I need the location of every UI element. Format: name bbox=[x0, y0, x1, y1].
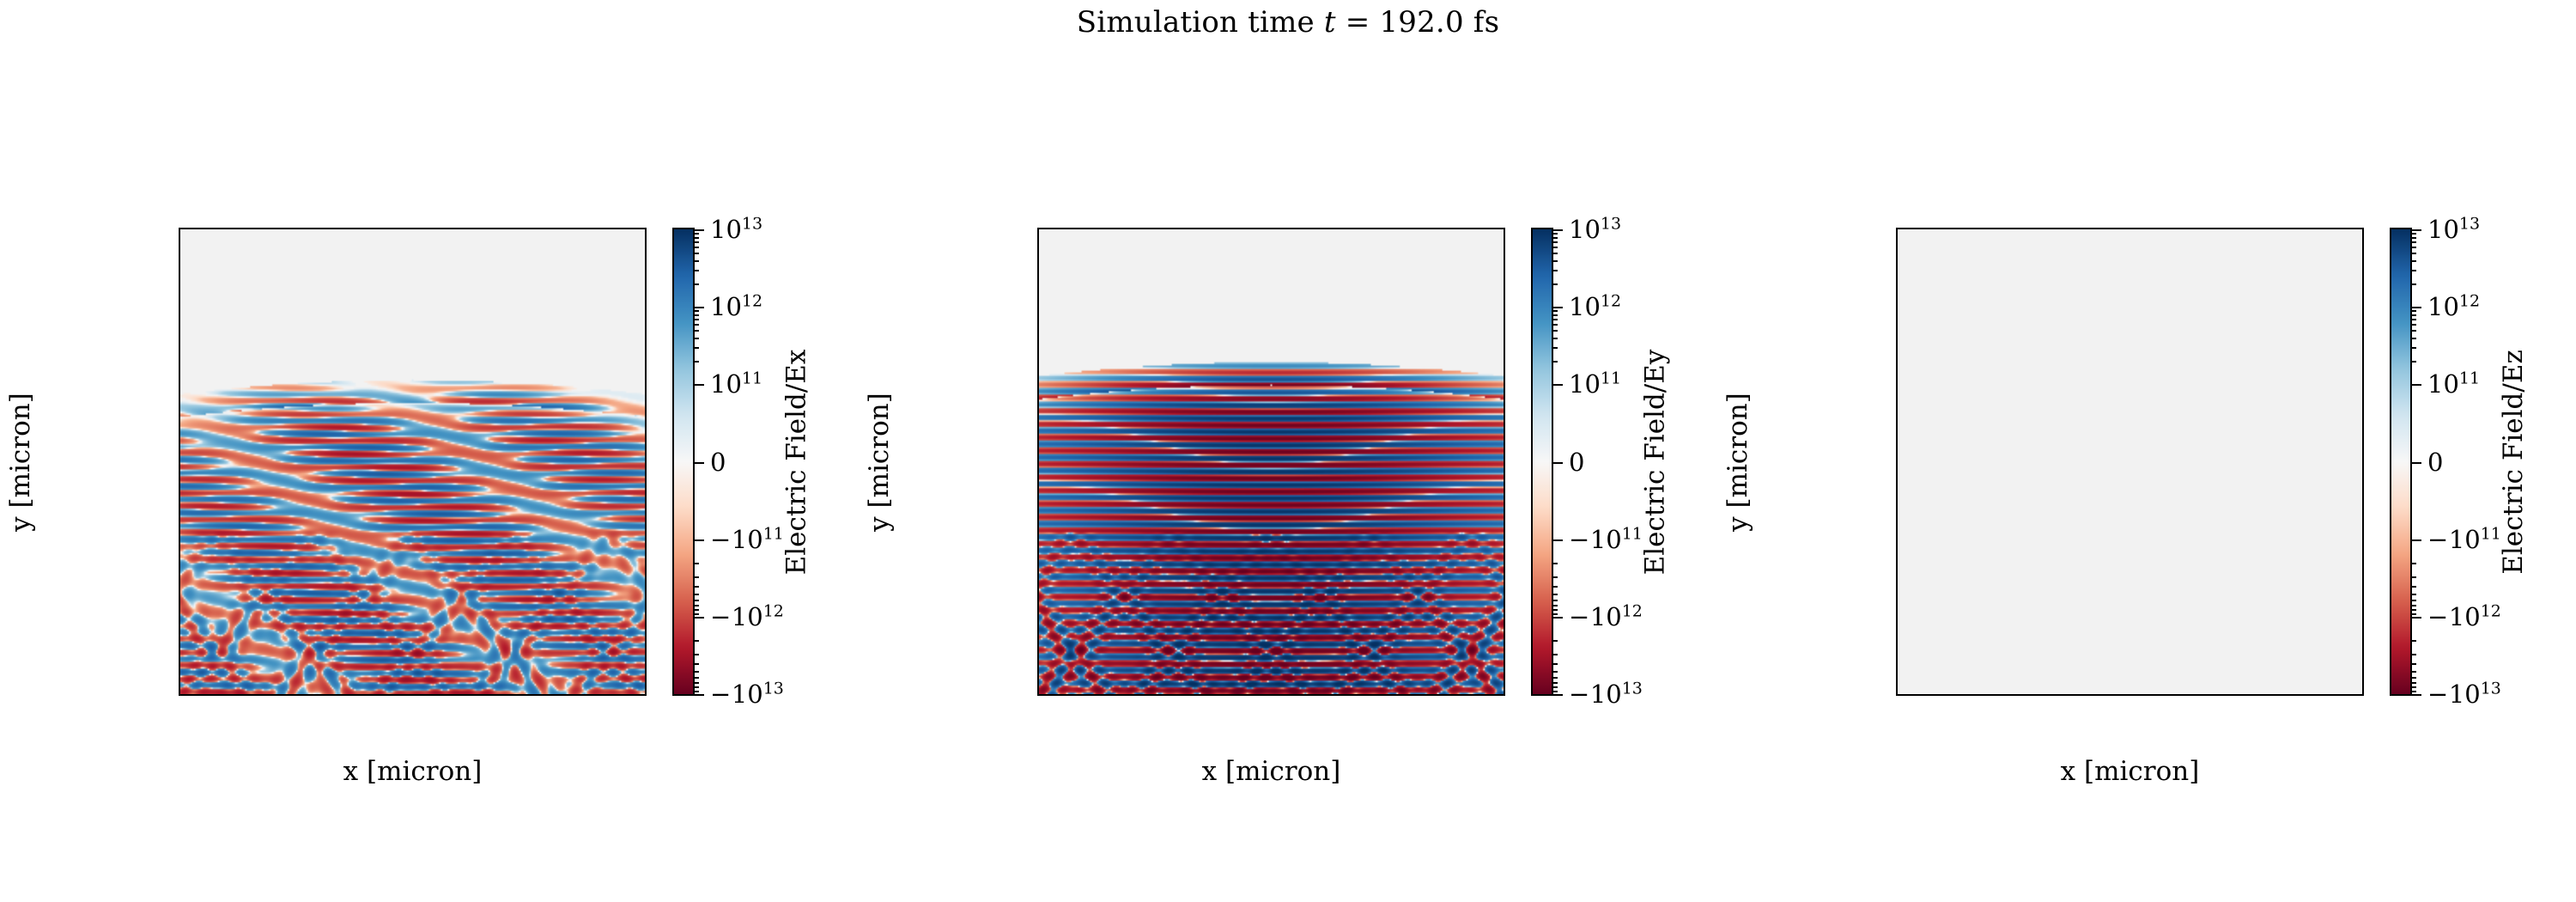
colorbar-tick-label: 1012 bbox=[710, 292, 762, 321]
x-tick-major bbox=[2281, 694, 2283, 696]
y-tick-minor bbox=[1896, 686, 1898, 688]
y-tick-minor bbox=[1896, 558, 1898, 560]
x-tick-major bbox=[513, 694, 515, 696]
colorbar-tick-minor bbox=[1552, 576, 1558, 578]
y-tick-minor bbox=[179, 444, 180, 446]
colorbar-gradient bbox=[1533, 229, 1552, 694]
colorbar-tick-minor bbox=[693, 253, 699, 254]
x-tick-major bbox=[1423, 694, 1425, 696]
y-tick-major bbox=[1896, 265, 1898, 267]
colorbar-title-text: Electric Field/Ex bbox=[781, 349, 811, 575]
y-tick-minor bbox=[1896, 277, 1898, 279]
y-tick-minor bbox=[1037, 380, 1039, 381]
colorbar-tick-label: 1011 bbox=[2427, 369, 2480, 399]
y-tick-minor bbox=[179, 661, 180, 662]
colorbar-tick bbox=[2410, 694, 2421, 696]
y-tick-major bbox=[1037, 673, 1039, 675]
y-tick-minor bbox=[1896, 495, 1898, 497]
x-tick-major bbox=[1272, 694, 1273, 696]
y-tick-minor bbox=[179, 405, 180, 407]
x-axis-title: x [micron] bbox=[1896, 756, 2364, 787]
x-tick-minor bbox=[2306, 694, 2308, 696]
x-tick-minor bbox=[1498, 694, 1500, 696]
colorbar-tick-minor bbox=[693, 347, 699, 349]
x-tick-minor bbox=[539, 694, 541, 696]
colorbar-tick-minor bbox=[1552, 600, 1558, 601]
colorbar-tick-minor bbox=[693, 640, 699, 642]
colorbar-tick-minor bbox=[2410, 671, 2416, 673]
axes-area-ex: 565452504846444240−8−6−4−202468 bbox=[179, 228, 647, 696]
colorbar-tick-minor bbox=[1552, 677, 1558, 679]
y-tick-minor bbox=[1037, 431, 1039, 433]
y-tick-minor bbox=[1037, 661, 1039, 662]
colorbar-tick-minor bbox=[2410, 338, 2416, 339]
colorbar-tick-minor bbox=[1552, 347, 1558, 349]
colorbar-tick-minor bbox=[693, 338, 699, 339]
colorbar-tick-minor bbox=[2410, 600, 2416, 601]
x-tick-minor bbox=[185, 694, 187, 696]
y-tick-minor bbox=[1037, 290, 1039, 292]
y-tick-major bbox=[179, 521, 180, 522]
colorbar-tick-label: 1011 bbox=[710, 369, 762, 399]
colorbar-tick-minor bbox=[693, 576, 699, 578]
y-axis-title-text: y [micron] bbox=[5, 393, 36, 532]
x-tick-major bbox=[564, 694, 566, 696]
y-tick-minor bbox=[1037, 355, 1039, 357]
y-tick-minor bbox=[1037, 482, 1039, 484]
y-tick-major bbox=[179, 673, 180, 675]
colorbar-tick-minor bbox=[693, 594, 699, 595]
colorbar-tick-minor bbox=[2410, 663, 2416, 665]
colorbar-tick bbox=[1552, 462, 1563, 464]
y-tick-minor bbox=[1037, 686, 1039, 688]
y-tick-major bbox=[1037, 418, 1039, 420]
y-tick-minor bbox=[1037, 457, 1039, 459]
y-tick-minor bbox=[1037, 405, 1039, 407]
y-tick-minor bbox=[1896, 444, 1898, 446]
x-tick-minor bbox=[2105, 694, 2106, 696]
colorbar-tick-label: 0 bbox=[710, 448, 726, 477]
colorbar-title: Electric Field/Ey bbox=[1636, 228, 1674, 696]
field-heatmap-ex bbox=[180, 229, 645, 694]
y-tick-minor bbox=[179, 457, 180, 459]
x-tick-minor bbox=[2206, 694, 2208, 696]
field-heatmap-ez bbox=[1898, 229, 2362, 694]
colorbar-tick-minor bbox=[693, 613, 699, 615]
x-tick-major bbox=[1170, 694, 1172, 696]
y-tick-minor bbox=[1896, 380, 1898, 381]
colorbar-tick-minor bbox=[1552, 324, 1558, 326]
y-tick-minor bbox=[179, 686, 180, 688]
y-tick-minor bbox=[1896, 648, 1898, 649]
colorbar-tick-label: 0 bbox=[2427, 448, 2443, 477]
x-tick-minor bbox=[640, 694, 641, 696]
x-tick-minor bbox=[589, 694, 591, 696]
y-tick-minor bbox=[179, 597, 180, 599]
colorbar-tick-minor bbox=[1552, 613, 1558, 615]
y-tick-minor bbox=[179, 610, 180, 612]
colorbar-tick-label: 1011 bbox=[1569, 369, 1621, 399]
y-tick-minor bbox=[1896, 342, 1898, 344]
colorbar-tick-minor bbox=[693, 241, 699, 243]
colorbar-tick-minor bbox=[1552, 609, 1558, 611]
y-tick-minor bbox=[1037, 584, 1039, 586]
colorbar-tick-minor bbox=[2410, 237, 2416, 239]
y-tick-major bbox=[179, 316, 180, 318]
axes-area-ez: 565452504846444240−8−6−4−202468 bbox=[1896, 228, 2364, 696]
y-tick-minor bbox=[179, 329, 180, 331]
x-tick-major bbox=[210, 694, 212, 696]
colorbar-tick bbox=[1552, 384, 1563, 386]
y-tick-minor bbox=[1896, 393, 1898, 394]
x-tick-major bbox=[1069, 694, 1071, 696]
colorbar-tick-minor bbox=[693, 330, 699, 332]
colorbar-tick-minor bbox=[1552, 330, 1558, 332]
y-tick-major bbox=[1896, 571, 1898, 573]
y-tick-minor bbox=[1037, 648, 1039, 649]
y-tick-minor bbox=[179, 636, 180, 637]
y-tick-minor bbox=[1896, 597, 1898, 599]
colorbar-tick-label: 0 bbox=[1569, 448, 1584, 477]
colorbar-tick-minor bbox=[1552, 682, 1558, 684]
colorbar-tick bbox=[2410, 462, 2421, 464]
colorbar-tick bbox=[693, 539, 704, 541]
colorbar-tick-minor bbox=[693, 361, 699, 363]
colorbar-tick-minor bbox=[1552, 640, 1558, 642]
colorbar-tick-minor bbox=[1552, 310, 1558, 312]
colorbar-tick-minor bbox=[1552, 283, 1558, 285]
colorbar-tick-minor bbox=[2410, 576, 2416, 578]
colorbar-tick bbox=[2410, 384, 2421, 386]
y-tick-minor bbox=[1896, 533, 1898, 535]
x-tick-major bbox=[2231, 694, 2233, 696]
x-tick-minor bbox=[489, 694, 490, 696]
colorbar-tick-minor bbox=[1552, 654, 1558, 655]
y-tick-minor bbox=[1896, 431, 1898, 433]
y-tick-major bbox=[1037, 368, 1039, 369]
x-tick-minor bbox=[236, 694, 238, 696]
colorbar-tick-minor bbox=[2410, 682, 2416, 684]
colorbar-tick-minor bbox=[693, 682, 699, 684]
y-tick-minor bbox=[179, 495, 180, 497]
y-tick-minor bbox=[1037, 636, 1039, 637]
x-tick-major bbox=[261, 694, 263, 696]
y-tick-minor bbox=[179, 290, 180, 292]
colorbar-tick-minor bbox=[2410, 270, 2416, 271]
x-tick-minor bbox=[1095, 694, 1097, 696]
colorbar-tick-label: 1013 bbox=[710, 215, 762, 244]
colorbar-tick-minor bbox=[2410, 310, 2416, 312]
x-tick-major bbox=[1473, 694, 1475, 696]
x-axis-title: x [micron] bbox=[1037, 756, 1505, 787]
colorbar-tick-minor bbox=[1552, 241, 1558, 243]
colorbar-tick-minor bbox=[2410, 563, 2416, 564]
colorbar-tick-minor bbox=[2410, 686, 2416, 688]
colorbar-tick-label: −1013 bbox=[2427, 680, 2501, 709]
colorbar-tick bbox=[693, 229, 704, 231]
colorbar-title-text: Electric Field/Ez bbox=[2498, 350, 2529, 575]
colorbar-tick-minor bbox=[693, 671, 699, 673]
colorbar-tick-minor bbox=[693, 319, 699, 320]
y-tick-minor bbox=[1037, 558, 1039, 560]
y-tick-minor bbox=[179, 533, 180, 535]
y-axis-title: y [micron] bbox=[862, 228, 896, 696]
colorbar-tick-label: −1013 bbox=[1569, 680, 1643, 709]
colorbar-tick-minor bbox=[693, 310, 699, 312]
colorbar-tick-label: 1012 bbox=[1569, 292, 1621, 321]
axes-area-ey: 565452504846444240−8−6−4−202468 bbox=[1037, 228, 1505, 696]
colorbar-tick-minor bbox=[693, 233, 699, 235]
x-tick-major bbox=[463, 694, 465, 696]
y-tick-minor bbox=[1896, 457, 1898, 459]
colorbar-tick-minor bbox=[2410, 347, 2416, 349]
y-tick-minor bbox=[1037, 597, 1039, 599]
y-tick-major bbox=[179, 265, 180, 267]
plot-panel-ey: 565452504846444240−8−6−4−202468x [micron… bbox=[859, 0, 1717, 902]
y-axis-title: y [micron] bbox=[1721, 228, 1755, 696]
x-tick-major bbox=[2332, 694, 2334, 696]
x-tick-major bbox=[312, 694, 313, 696]
y-tick-major bbox=[179, 623, 180, 625]
x-axis-title: x [micron] bbox=[179, 756, 647, 787]
x-tick-major bbox=[2130, 694, 2132, 696]
x-tick-minor bbox=[1246, 694, 1248, 696]
colorbar-tick-minor bbox=[2410, 283, 2416, 285]
colorbar-tick-minor bbox=[1552, 270, 1558, 271]
y-tick-minor bbox=[1896, 546, 1898, 548]
x-tick-major bbox=[362, 694, 364, 696]
colorbar-tick bbox=[1552, 694, 1563, 696]
y-tick-major bbox=[1896, 469, 1898, 471]
colorbar-tick-label: 1013 bbox=[1569, 215, 1621, 244]
x-tick-major bbox=[1120, 694, 1121, 696]
x-tick-minor bbox=[2155, 694, 2157, 696]
y-tick-minor bbox=[1037, 240, 1039, 241]
x-tick-minor bbox=[1195, 694, 1197, 696]
x-tick-minor bbox=[337, 694, 338, 696]
y-tick-major bbox=[1896, 316, 1898, 318]
y-tick-minor bbox=[179, 546, 180, 548]
y-tick-minor bbox=[179, 277, 180, 279]
x-tick-major bbox=[1978, 694, 1980, 696]
y-tick-minor bbox=[1896, 610, 1898, 612]
colorbar-tick-minor bbox=[693, 654, 699, 655]
colorbar-tick-minor bbox=[2410, 314, 2416, 316]
x-tick-minor bbox=[1044, 694, 1046, 696]
colorbar-tick bbox=[693, 307, 704, 308]
colorbar-tick-minor bbox=[693, 247, 699, 248]
colorbar-tick-minor bbox=[693, 605, 699, 606]
colorbar-title: Electric Field/Ez bbox=[2494, 228, 2532, 696]
plot-panel-ex: 565452504846444240−8−6−4−202468x [micron… bbox=[0, 0, 859, 902]
y-tick-minor bbox=[1037, 546, 1039, 548]
y-tick-minor bbox=[1896, 661, 1898, 662]
field-heatmap-ey bbox=[1039, 229, 1504, 694]
colorbar-tick bbox=[1552, 539, 1563, 541]
colorbar-tick-minor bbox=[693, 677, 699, 679]
y-tick-minor bbox=[1896, 508, 1898, 509]
colorbar-tick-label: −1012 bbox=[2427, 602, 2501, 631]
colorbar-tick-minor bbox=[2410, 613, 2416, 615]
x-tick-minor bbox=[438, 694, 440, 696]
y-tick-minor bbox=[1037, 303, 1039, 305]
colorbar-tick-minor bbox=[693, 314, 699, 316]
colorbar-ex: 1013101210110−1011−1012−1013 bbox=[672, 228, 695, 696]
colorbar-tick-minor bbox=[2410, 361, 2416, 363]
y-tick-major bbox=[1896, 521, 1898, 522]
colorbar-tick-minor bbox=[2410, 324, 2416, 326]
y-tick-minor bbox=[179, 393, 180, 394]
x-tick-major bbox=[1221, 694, 1223, 696]
x-tick-minor bbox=[2357, 694, 2359, 696]
y-axis-title: y [micron] bbox=[3, 228, 38, 696]
x-tick-major bbox=[413, 694, 415, 696]
colorbar-ez: 1013101210110−1011−1012−1013 bbox=[2390, 228, 2412, 696]
y-tick-minor bbox=[1037, 444, 1039, 446]
y-tick-major bbox=[1037, 469, 1039, 471]
colorbar-tick bbox=[2410, 307, 2421, 308]
y-tick-minor bbox=[179, 558, 180, 560]
colorbar-tick-minor bbox=[693, 324, 699, 326]
y-tick-minor bbox=[179, 482, 180, 484]
y-tick-minor bbox=[1896, 584, 1898, 586]
colorbar-tick-minor bbox=[2410, 677, 2416, 679]
y-tick-minor bbox=[1037, 342, 1039, 344]
y-tick-minor bbox=[1037, 393, 1039, 394]
y-tick-major bbox=[1037, 316, 1039, 318]
colorbar-tick-minor bbox=[2410, 605, 2416, 606]
y-tick-minor bbox=[179, 240, 180, 241]
colorbar-tick bbox=[693, 462, 704, 464]
colorbar-tick-minor bbox=[1552, 319, 1558, 320]
colorbar-tick-label: −1012 bbox=[1569, 602, 1643, 631]
colorbar-tick-minor bbox=[2410, 247, 2416, 248]
colorbar-ey: 1013101210110−1011−1012−1013 bbox=[1531, 228, 1553, 696]
y-tick-major bbox=[1896, 368, 1898, 369]
colorbar-tick-label: −1013 bbox=[710, 680, 784, 709]
y-tick-minor bbox=[1896, 290, 1898, 292]
y-tick-minor bbox=[1896, 355, 1898, 357]
y-tick-minor bbox=[179, 355, 180, 357]
x-tick-minor bbox=[1145, 694, 1146, 696]
colorbar-tick-minor bbox=[2410, 586, 2416, 588]
colorbar-tick bbox=[1552, 617, 1563, 619]
y-tick-major bbox=[1037, 521, 1039, 522]
x-tick-major bbox=[1321, 694, 1323, 696]
colorbar-tick-minor bbox=[2410, 319, 2416, 320]
y-tick-major bbox=[1037, 623, 1039, 625]
y-tick-minor bbox=[179, 584, 180, 586]
figure-canvas: Simulation time t = 192.0 fs 56545250484… bbox=[0, 0, 2576, 902]
x-tick-major bbox=[2180, 694, 2182, 696]
colorbar-tick-minor bbox=[1552, 253, 1558, 254]
colorbar-tick-minor bbox=[1552, 586, 1558, 588]
y-tick-minor bbox=[179, 380, 180, 381]
colorbar-tick-minor bbox=[693, 600, 699, 601]
x-tick-minor bbox=[2054, 694, 2056, 696]
y-tick-minor bbox=[1037, 508, 1039, 509]
y-tick-minor bbox=[179, 253, 180, 254]
y-tick-minor bbox=[1896, 405, 1898, 407]
colorbar-gradient bbox=[674, 229, 693, 694]
x-tick-minor bbox=[1347, 694, 1349, 696]
colorbar-tick-label: −1011 bbox=[710, 525, 784, 554]
colorbar-title-text: Electric Field/Ey bbox=[1639, 349, 1670, 575]
y-axis-title-text: y [micron] bbox=[1722, 393, 1753, 532]
y-tick-major bbox=[1037, 571, 1039, 573]
y-tick-minor bbox=[179, 648, 180, 649]
colorbar-tick bbox=[693, 694, 704, 696]
y-tick-minor bbox=[1037, 610, 1039, 612]
colorbar-tick-minor bbox=[1552, 663, 1558, 665]
colorbar-tick bbox=[2410, 617, 2421, 619]
plot-panel-ez: 565452504846444240−8−6−4−202468x [micron… bbox=[1717, 0, 2576, 902]
colorbar-tick bbox=[1552, 307, 1563, 308]
y-tick-minor bbox=[179, 342, 180, 344]
x-tick-minor bbox=[2257, 694, 2258, 696]
colorbar-tick bbox=[2410, 539, 2421, 541]
y-tick-major bbox=[1896, 623, 1898, 625]
y-tick-minor bbox=[1037, 253, 1039, 254]
y-tick-minor bbox=[1896, 253, 1898, 254]
y-tick-minor bbox=[179, 508, 180, 509]
y-tick-minor bbox=[1037, 277, 1039, 279]
x-tick-minor bbox=[1297, 694, 1298, 696]
colorbar-tick-minor bbox=[2410, 609, 2416, 611]
colorbar-tick-minor bbox=[1552, 233, 1558, 235]
y-tick-major bbox=[179, 469, 180, 471]
colorbar-tick-minor bbox=[693, 563, 699, 564]
colorbar-tick-minor bbox=[2410, 253, 2416, 254]
colorbar-tick bbox=[693, 384, 704, 386]
y-tick-minor bbox=[1037, 533, 1039, 535]
colorbar-tick-minor bbox=[2410, 691, 2416, 692]
colorbar-tick-minor bbox=[693, 609, 699, 611]
x-tick-minor bbox=[286, 694, 288, 696]
colorbar-tick-minor bbox=[2410, 330, 2416, 332]
y-tick-minor bbox=[179, 431, 180, 433]
x-tick-major bbox=[2080, 694, 2081, 696]
colorbar-tick-minor bbox=[1552, 260, 1558, 262]
colorbar-tick-minor bbox=[693, 270, 699, 271]
colorbar-tick bbox=[1552, 229, 1563, 231]
colorbar-tick-minor bbox=[1552, 314, 1558, 316]
y-tick-minor bbox=[1037, 495, 1039, 497]
y-tick-minor bbox=[1896, 303, 1898, 305]
colorbar-tick-minor bbox=[2410, 241, 2416, 243]
colorbar-tick-minor bbox=[1552, 671, 1558, 673]
colorbar-tick-minor bbox=[693, 260, 699, 262]
colorbar-tick bbox=[2410, 229, 2421, 231]
colorbar-tick-minor bbox=[1552, 594, 1558, 595]
y-tick-minor bbox=[1896, 482, 1898, 484]
colorbar-tick-minor bbox=[2410, 640, 2416, 642]
colorbar-tick-minor bbox=[1552, 361, 1558, 363]
colorbar-tick-minor bbox=[693, 283, 699, 285]
y-tick-minor bbox=[179, 303, 180, 305]
x-tick-major bbox=[615, 694, 617, 696]
colorbar-tick-label: 1012 bbox=[2427, 292, 2480, 321]
colorbar-tick-label: 1013 bbox=[2427, 215, 2480, 244]
colorbar-tick-minor bbox=[2410, 233, 2416, 235]
colorbar-gradient bbox=[2391, 229, 2410, 694]
colorbar-tick-minor bbox=[693, 237, 699, 239]
y-tick-minor bbox=[1896, 240, 1898, 241]
y-tick-major bbox=[179, 368, 180, 369]
y-tick-minor bbox=[1896, 636, 1898, 637]
y-tick-major bbox=[179, 571, 180, 573]
x-tick-major bbox=[2029, 694, 2031, 696]
